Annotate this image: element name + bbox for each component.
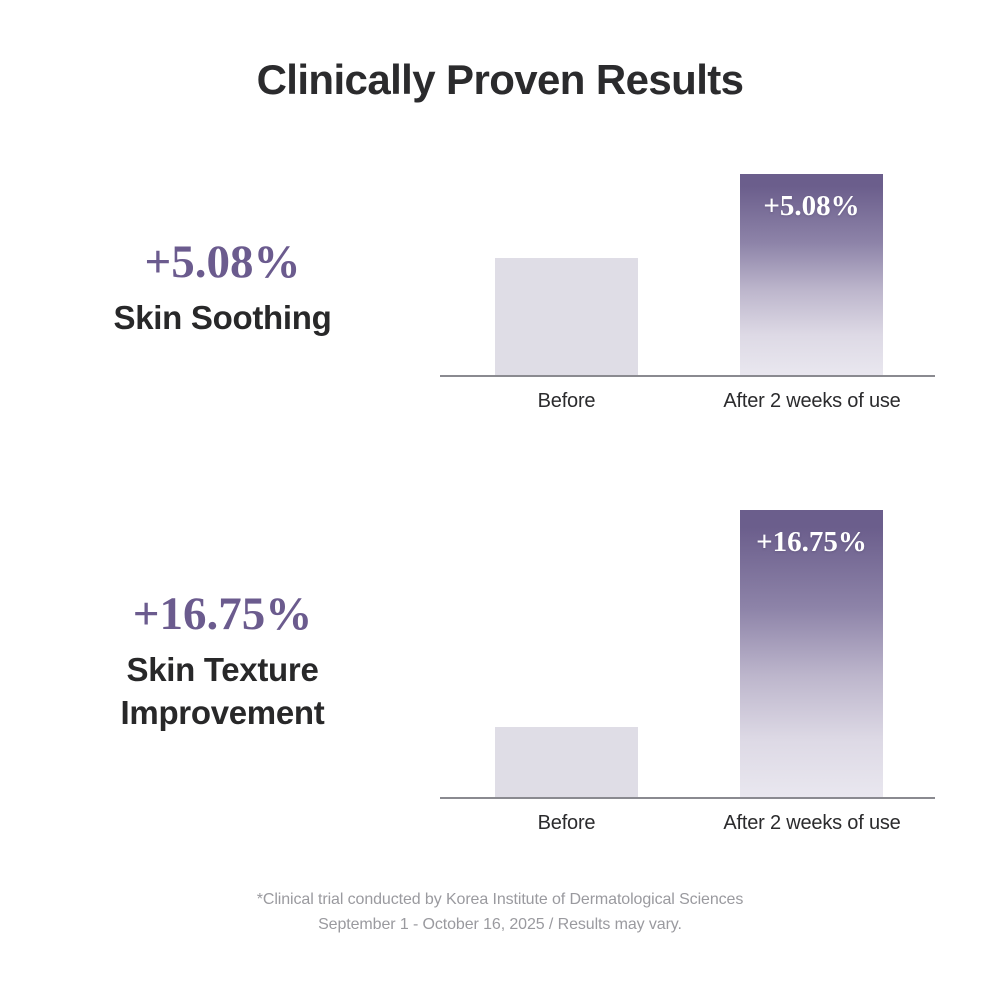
x-axis-tick-labels: Before After 2 weeks of use	[440, 812, 935, 842]
stat-value: +5.08%	[50, 238, 395, 287]
bar-chart-skin-texture-improvement: +16.75% Before After 2 weeks of use	[440, 490, 935, 797]
plot-area: +16.75%	[440, 490, 935, 797]
tick-label-after: After 2 weeks of use	[692, 812, 932, 835]
result-block-skin-soothing: +5.08% Skin Soothing +5.08% Before After…	[0, 160, 1000, 430]
stat-label: Skin Soothing	[50, 297, 395, 339]
stat-label: Skin Texture Improvement	[50, 649, 395, 733]
footnote-line-2: September 1 - October 16, 2025 / Results…	[0, 913, 1000, 938]
plot-area: +5.08%	[440, 160, 935, 375]
x-axis-line	[440, 375, 935, 377]
clinical-results-infographic: Clinically Proven Results +5.08% Skin So…	[0, 0, 1000, 1000]
page-title: Clinically Proven Results	[0, 56, 1000, 104]
x-axis-tick-labels: Before After 2 weeks of use	[440, 390, 935, 420]
footnote: *Clinical trial conducted by Korea Insti…	[0, 888, 1000, 938]
stat-summary: +16.75% Skin Texture Improvement	[50, 590, 395, 734]
bar-after: +16.75%	[740, 510, 883, 797]
stat-value: +16.75%	[50, 590, 395, 639]
bar-chart-skin-soothing: +5.08% Before After 2 weeks of use	[440, 160, 935, 375]
bar-value-label: +5.08%	[740, 190, 883, 223]
tick-label-before: Before	[469, 390, 664, 413]
bar-after: +5.08%	[740, 174, 883, 375]
x-axis-line	[440, 797, 935, 799]
result-block-skin-texture-improvement: +16.75% Skin Texture Improvement +16.75%…	[0, 490, 1000, 850]
tick-label-before: Before	[469, 812, 664, 835]
footnote-line-1: *Clinical trial conducted by Korea Insti…	[0, 888, 1000, 913]
bar-before	[495, 727, 638, 797]
stat-summary: +5.08% Skin Soothing	[50, 238, 395, 340]
tick-label-after: After 2 weeks of use	[692, 390, 932, 413]
bar-value-label: +16.75%	[740, 526, 883, 559]
bar-before	[495, 258, 638, 375]
